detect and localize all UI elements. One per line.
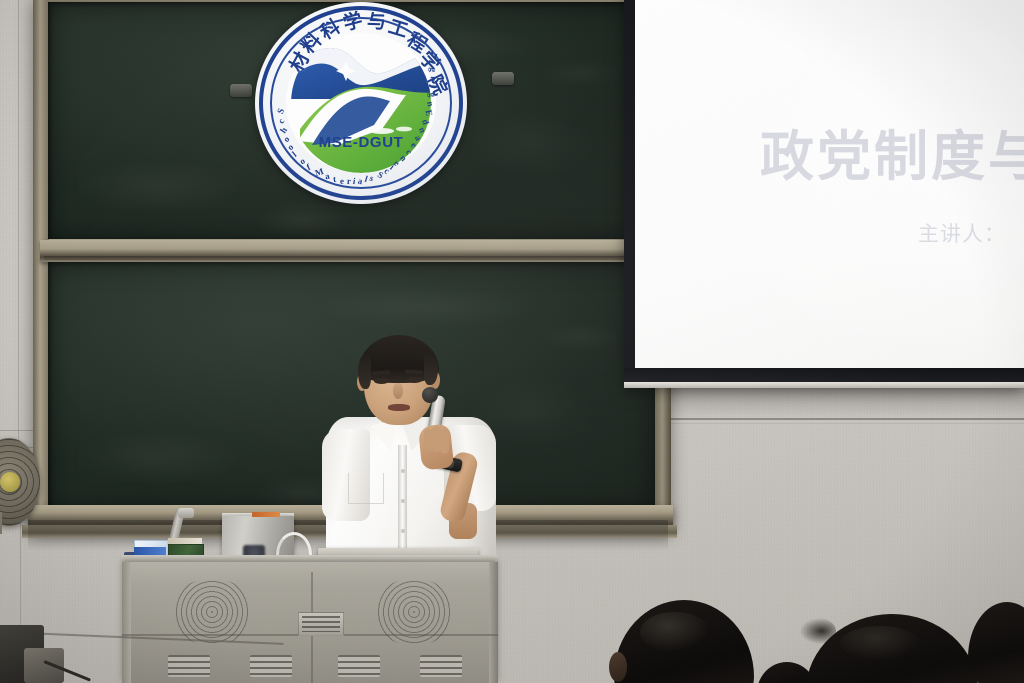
student-hair-highlight	[640, 612, 710, 652]
shirt-button	[401, 499, 405, 503]
lectern-spec-plate	[298, 612, 344, 636]
lectern-right-edge	[489, 562, 498, 683]
slide-title: 政党制度与	[760, 112, 1024, 191]
lectern-speaker-grille-left	[172, 578, 252, 646]
emblem-mountain-icon	[286, 33, 436, 173]
wall-seam-line	[628, 423, 1024, 424]
student-ear	[609, 652, 627, 682]
lectern-speaker-grille-right	[374, 578, 454, 646]
wall-vertical-seam	[18, 0, 19, 440]
orange-strip	[252, 512, 280, 517]
logo-mount-clip-icon	[230, 84, 252, 97]
spec-plate-text	[302, 616, 340, 632]
lectern-vent-slots	[168, 655, 210, 677]
shirt-pocket	[348, 473, 384, 504]
wall-fan	[0, 438, 40, 534]
presenter-hair-side	[358, 355, 371, 389]
logo-mount-clip-icon	[492, 72, 514, 85]
screen-shadow	[628, 384, 1024, 418]
fan-stem	[0, 512, 2, 534]
presenter	[320, 333, 500, 568]
presenter-eye	[407, 377, 422, 383]
presenter-nose	[393, 383, 403, 399]
fan-hub	[0, 472, 20, 492]
projector-screen-rail	[624, 382, 1024, 388]
presenter-mouth	[388, 404, 410, 411]
wall-seam-line	[628, 418, 1024, 420]
lectern-pole-tip	[178, 508, 194, 518]
lectern-vent-slots	[338, 655, 380, 677]
presenter-eyebrow	[405, 370, 423, 375]
emblem-core	[286, 33, 436, 173]
lecture-hall-photo: 材 料 科 学 与 工 程 学 院 S c h o o l o f M a t …	[0, 0, 1024, 683]
presenter-finger	[440, 429, 449, 454]
shirt-button	[401, 529, 405, 533]
student-hair-highlight	[840, 626, 920, 660]
presenter-hair-side	[424, 353, 438, 385]
emblem-acronym: MSE-DGUT	[255, 134, 467, 151]
slide-subtitle: 主讲人：	[918, 218, 1006, 248]
presenter-eye	[374, 378, 389, 384]
school-emblem: 材 料 科 学 与 工 程 学 院 S c h o o l o f M a t …	[255, 2, 467, 204]
shirt-button	[401, 469, 405, 473]
lectern-left-edge	[122, 562, 131, 683]
blackboard-rail-lip	[44, 256, 659, 260]
lectern-vent-slots	[250, 655, 292, 677]
lectern-vent-slots	[420, 655, 462, 677]
projector-screen-bottom-band	[624, 368, 1024, 382]
